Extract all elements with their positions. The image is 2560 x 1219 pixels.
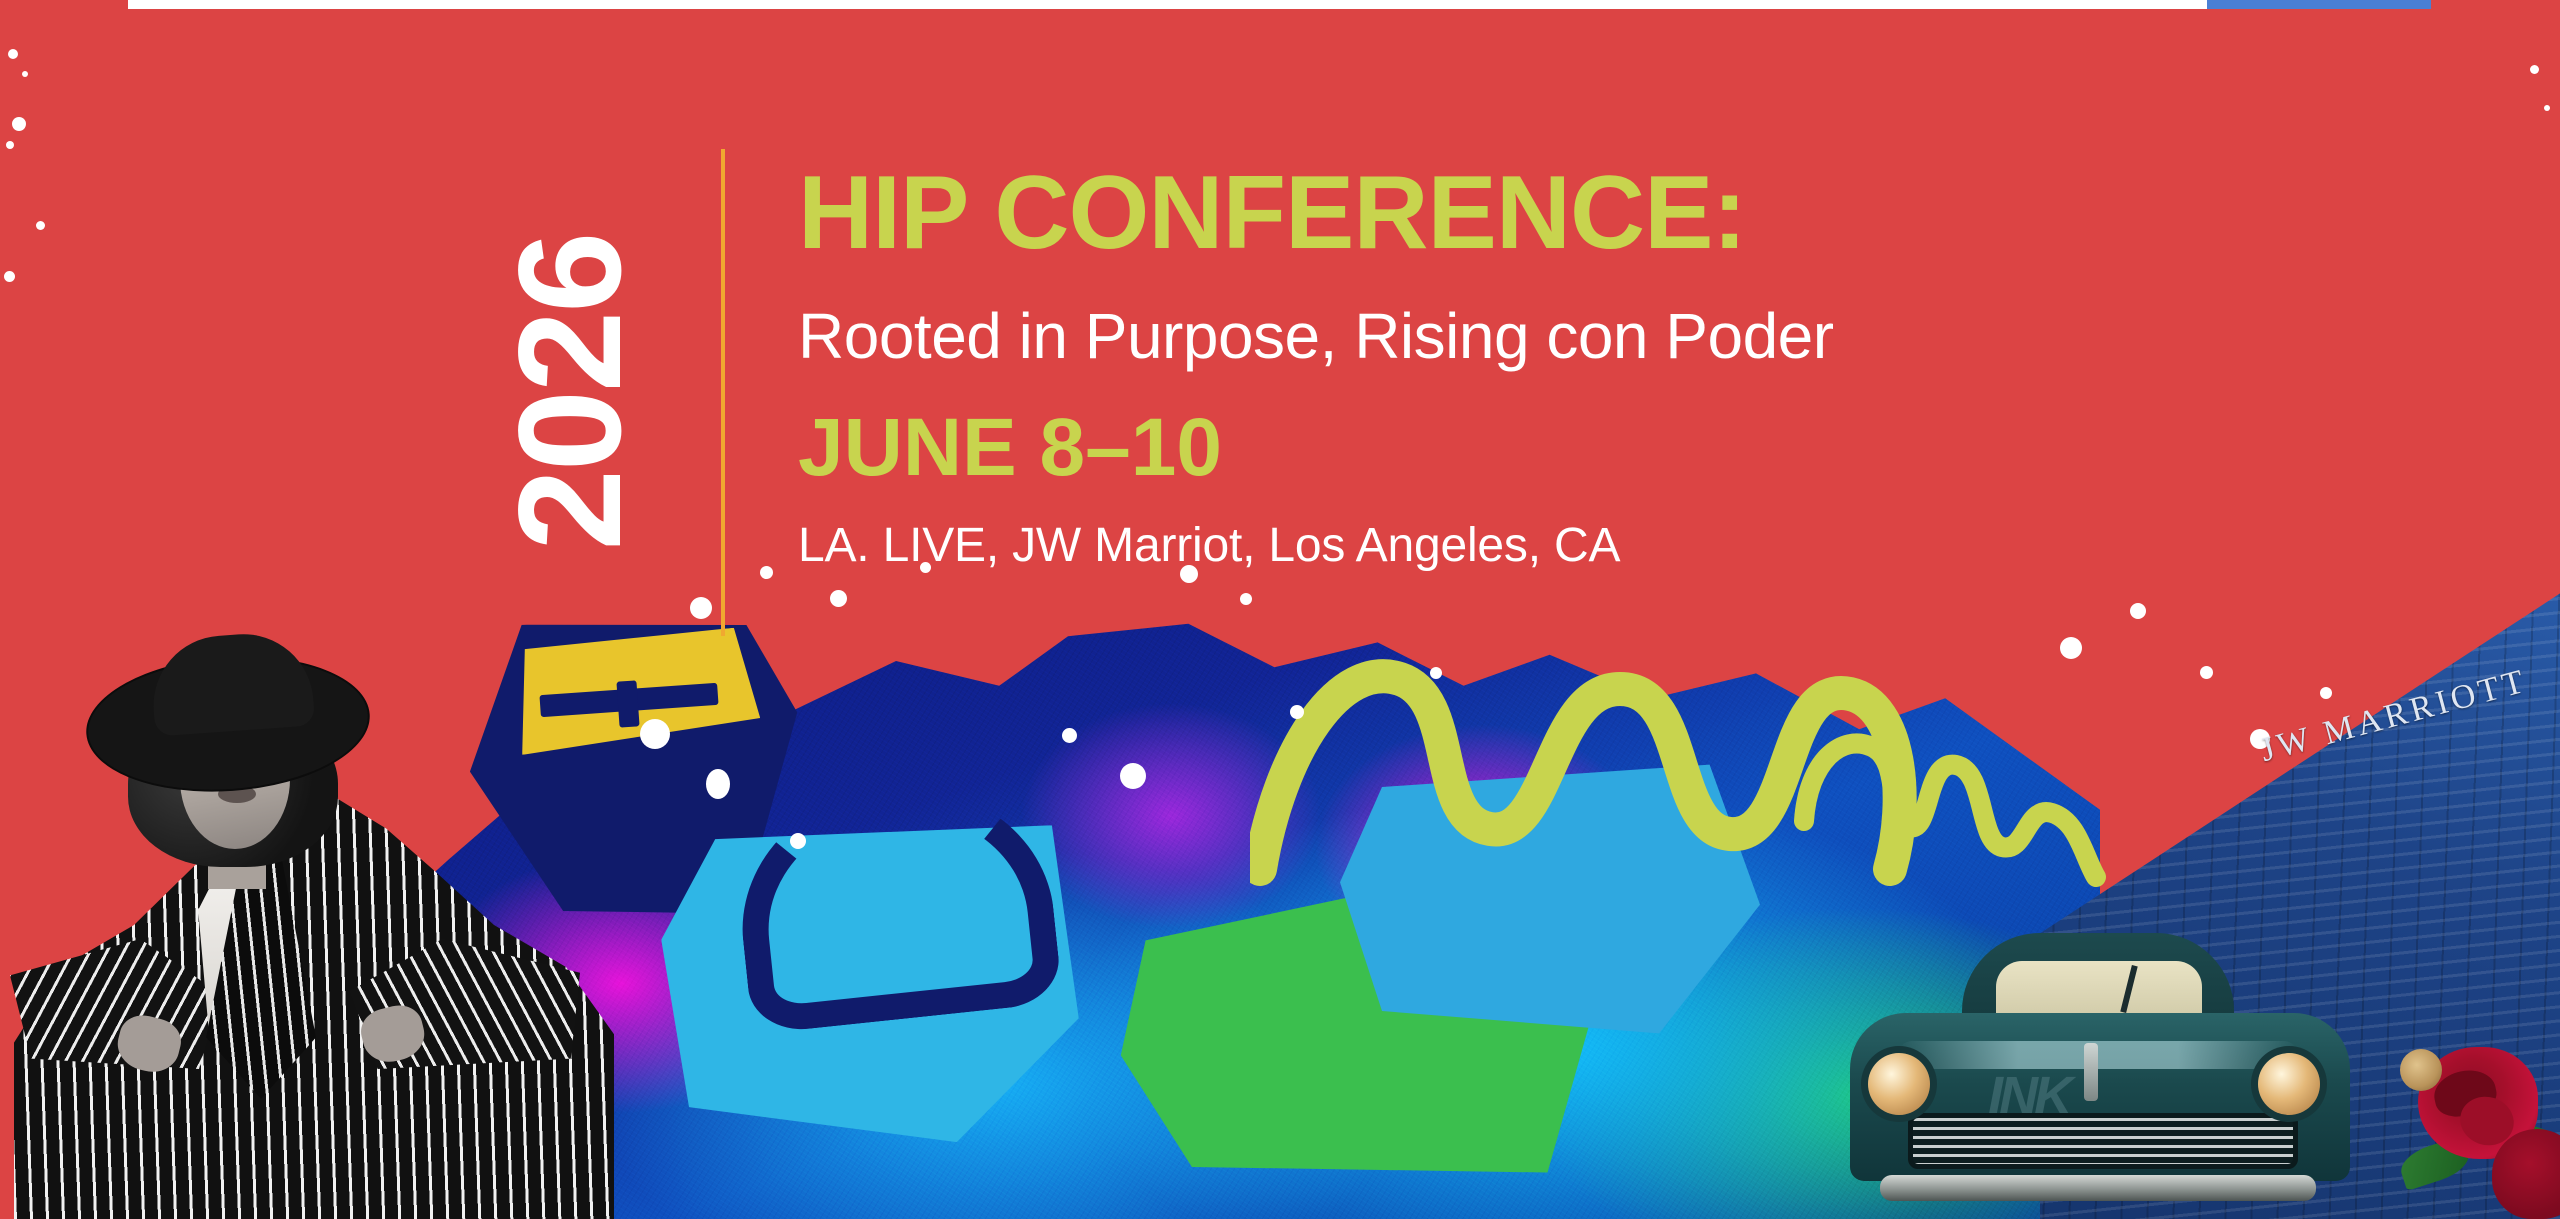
car-bumper [1880, 1175, 2316, 1201]
paint-splatter [706, 769, 730, 799]
car-headlight-left [1868, 1053, 1930, 1115]
headline-block: HIP CONFERENCE: Rooted in Purpose, Risin… [798, 159, 2298, 575]
paint-splatter [1120, 763, 1146, 789]
lime-squiggle-small-icon [1790, 709, 2110, 889]
paint-splatter [1062, 728, 1077, 743]
poster-screenshot: JW MARRIOTT INK [0, 0, 2560, 1219]
paint-splatter [760, 566, 773, 579]
conference-subtitle: Rooted in Purpose, Rising con Poder [798, 298, 2298, 375]
paint-splatter [2530, 65, 2539, 74]
paint-splatter [640, 719, 670, 749]
year-container: 2026 [455, 139, 685, 639]
rose-bud [2400, 1049, 2442, 1091]
conference-venue: LA. LIVE, JW Marriot, Los Angeles, CA [798, 517, 2298, 575]
browser-top-strip-blue [2207, 0, 2431, 9]
browser-top-strip-white [128, 0, 2207, 9]
paint-splatter [2200, 666, 2213, 679]
conference-dates: JUNE 8–10 [798, 405, 2298, 491]
paint-splatter [790, 833, 806, 849]
paint-splatter [36, 221, 45, 230]
paint-splatter [2060, 637, 2082, 659]
paint-splatter [4, 271, 15, 282]
hat-crown [149, 630, 315, 737]
paint-splatter [6, 141, 14, 149]
year-label: 2026 [497, 142, 643, 642]
paint-splatter [12, 117, 26, 131]
paint-splatter [8, 49, 18, 59]
car-grille [1908, 1113, 2298, 1169]
paint-splatter [22, 71, 28, 77]
collage-artwork: JW MARRIOTT INK [0, 479, 2560, 1219]
paint-splatter [1240, 593, 1252, 605]
paint-splatter [2320, 687, 2332, 699]
paint-splatter [830, 590, 847, 607]
car-headlight-right [2258, 1053, 2320, 1115]
classic-car: INK [1838, 919, 2358, 1219]
paint-splatter [2130, 603, 2146, 619]
conference-title: HIP CONFERENCE: [798, 159, 2298, 268]
paint-splatter [2544, 105, 2550, 111]
car-hood-ornament [2084, 1043, 2098, 1101]
poster-canvas: JW MARRIOTT INK [0, 9, 2560, 1219]
vertical-divider [721, 149, 725, 636]
paint-splatter [1290, 705, 1304, 719]
paint-splatter [1430, 667, 1442, 679]
paint-splatter [690, 597, 712, 619]
